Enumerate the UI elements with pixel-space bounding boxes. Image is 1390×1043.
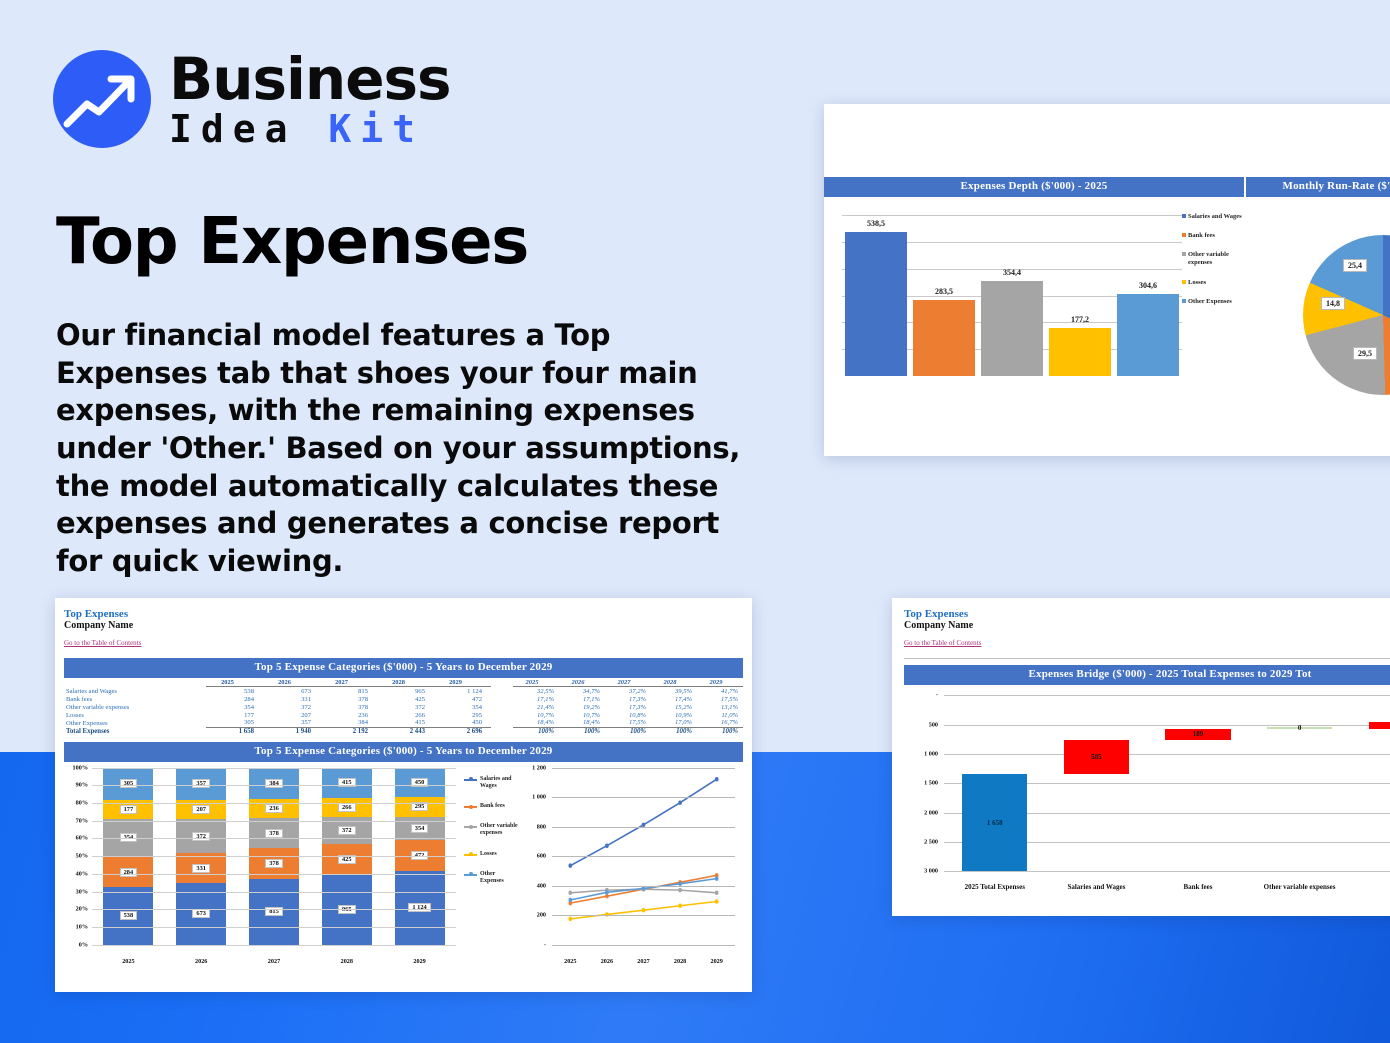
legend-swatch	[1182, 299, 1186, 303]
brand-logo: Business Idea Kit	[53, 50, 451, 148]
legend-swatch	[1182, 214, 1186, 218]
x-axis-tick: 2029	[395, 958, 445, 965]
bar: 304,6	[1117, 294, 1179, 376]
total-value: 1 940	[263, 727, 320, 735]
legend-item: Bank fees	[1182, 232, 1242, 240]
row-value: 357	[263, 719, 320, 727]
row-pct: 39,5%	[651, 688, 697, 696]
pie-slice-label: 14,8	[1321, 297, 1345, 310]
y-axis-tick: 60%	[76, 835, 88, 842]
gridline	[92, 803, 456, 804]
gridline	[92, 785, 456, 786]
x-axis-tick: 2027	[625, 958, 662, 965]
y-axis-tick: 20%	[76, 906, 88, 913]
waterfall-bar: 1 658	[962, 774, 1027, 871]
y-axis-tick: 1 000	[532, 794, 546, 801]
row-pct: 11,0%	[697, 711, 743, 719]
waterfall-bar: 0	[1267, 727, 1332, 729]
y-axis-tick: 200	[537, 912, 546, 919]
x-axis-tick: 2028	[662, 958, 699, 965]
stacked-segment: 284	[103, 857, 153, 887]
stacked-bar-chart: 100%90%80%70%60%50%40%30%20%10%0% 305177…	[64, 762, 462, 967]
legend-label: Other Expenses	[1188, 298, 1232, 306]
divider	[904, 658, 1390, 659]
legend-item: Other Expenses	[464, 871, 520, 885]
row-pct: 34,7%	[559, 688, 605, 696]
row-value: 673	[263, 688, 320, 696]
stacked-segment: 538	[103, 887, 153, 944]
legend-line-swatch	[464, 826, 477, 828]
legend-label: Salaries and Wages	[1188, 213, 1242, 221]
x-axis-tick: 2026	[589, 958, 626, 965]
bar: 538,5	[845, 232, 907, 376]
chart-title-monthly-run-rate: Monthly Run-Rate ($'000	[1244, 177, 1390, 197]
row-pct: 17,4%	[651, 696, 697, 704]
legend-item: Salaries and Wages	[1182, 213, 1242, 221]
y-axis-tick: 600	[537, 853, 546, 860]
y-axis-tick: 800	[537, 823, 546, 830]
table-header-year: 2028	[377, 678, 434, 686]
legend-swatch	[1182, 252, 1186, 256]
total-value: 1 658	[206, 727, 263, 735]
segment-value-label: 177	[120, 805, 138, 814]
sheet-title-bridge: Top Expenses	[904, 608, 1390, 620]
y-axis-tick: 1 200	[532, 764, 546, 771]
row-pct: 17,3%	[605, 704, 651, 712]
table-header-year: 2026	[263, 678, 320, 686]
stacked-segment: 450	[395, 768, 445, 798]
y-axis-tick: 3 000	[924, 868, 938, 875]
gridline	[92, 768, 456, 769]
sheet-header: Top Expenses Company Name Go to the Tabl…	[64, 608, 743, 649]
gridline	[552, 768, 735, 769]
row-label: Bank fees	[64, 696, 206, 704]
y-axis-tick: 500	[929, 721, 938, 728]
gridline	[552, 856, 735, 857]
row-pct: 18,4%	[559, 719, 605, 727]
y-axis-tick: 1 000	[924, 751, 938, 758]
table-row: Other variable expenses35437237837235421…	[64, 704, 743, 712]
stacked-segment: 331	[176, 853, 226, 883]
row-pct: 10,8%	[605, 711, 651, 719]
segment-value-label: 357	[192, 779, 210, 788]
row-pct: 10,7%	[559, 711, 605, 719]
row-value: 384	[320, 719, 377, 727]
segment-value-label: 378	[265, 859, 283, 868]
row-pct: 10,7%	[513, 711, 559, 719]
bar-chart-legend: Salaries and WagesBank feesOther variabl…	[1182, 213, 1242, 317]
row-value: 331	[263, 696, 320, 704]
row-pct: 17,1%	[513, 696, 559, 704]
table-header-year: 2025	[206, 678, 263, 686]
bar-value-label: 354,4	[981, 268, 1043, 277]
total-pct: 100%	[605, 727, 651, 735]
waterfall-value-label: 1 658	[987, 819, 1003, 827]
gridline	[92, 821, 456, 822]
row-value: 207	[263, 711, 320, 719]
legend-line-swatch	[464, 779, 477, 781]
row-value: 305	[206, 719, 263, 727]
table-header-year-pct: 2027	[605, 678, 651, 686]
segment-value-label: 331	[192, 864, 210, 873]
row-value: 965	[377, 688, 434, 696]
row-value: 236	[320, 711, 377, 719]
y-axis-tick: 2 000	[924, 809, 938, 816]
y-axis-tick: 0%	[79, 941, 88, 948]
y-axis-tick: 80%	[76, 800, 88, 807]
row-value: 354	[434, 704, 491, 712]
bar: 177,2	[1049, 328, 1111, 376]
total-value: 2 696	[434, 727, 491, 735]
bar: 283,5	[913, 300, 975, 376]
legend-label: Bank fees	[480, 803, 505, 810]
row-pct: 13,1%	[697, 704, 743, 712]
row-pct: 15,2%	[651, 704, 697, 712]
brand-kit-text: Kit	[328, 107, 424, 151]
table-header-year-pct: 2029	[697, 678, 743, 686]
row-pct: 10,9%	[651, 711, 697, 719]
gridline	[92, 927, 456, 928]
spacer	[491, 704, 513, 712]
row-value: 378	[320, 696, 377, 704]
total-value: 2 192	[320, 727, 377, 735]
gridline	[944, 725, 1390, 726]
gridline	[92, 838, 456, 839]
sheet-company-name-bridge: Company Name	[904, 620, 1390, 631]
legend-item: Bank fees	[464, 803, 520, 810]
legend-line-swatch	[464, 854, 477, 856]
y-axis-tick: 70%	[76, 817, 88, 824]
segment-value-label: 207	[192, 805, 210, 814]
panel-expenses-depth: Expenses Depth ($'000) - 2025 Monthly Ru…	[824, 104, 1390, 456]
row-value: 284	[206, 696, 263, 704]
stacked-segment: 266	[322, 798, 372, 817]
line-chart-legend: Salaries and WagesBank feesOther variabl…	[464, 776, 520, 899]
x-axis-tick: Other variable expenses	[1249, 883, 1351, 891]
segment-value-label: 236	[265, 804, 283, 813]
stacked-segment: 425	[322, 844, 372, 875]
table-header-year: 2029	[434, 678, 491, 686]
y-axis-tick: 2 500	[924, 839, 938, 846]
legend-item: Other variable expenses	[1182, 251, 1242, 267]
gridline	[92, 856, 456, 857]
y-axis-tick: 10%	[76, 923, 88, 930]
y-axis-tick: -	[936, 692, 938, 699]
growth-arrow-icon	[53, 50, 151, 148]
row-value: 450	[434, 719, 491, 727]
gridline	[92, 945, 456, 946]
table-total-row: Total Expenses1 6581 9402 1922 4432 6961…	[64, 727, 743, 735]
sheet-header-bridge: Top Expenses Company Name Go to the Tabl…	[904, 608, 1390, 649]
sheet-title: Top Expenses	[64, 608, 743, 620]
table-header-row: 2025202620272028202920252026202720282029	[64, 678, 743, 686]
waterfall-value-label: 189	[1193, 730, 1204, 738]
gridline	[552, 827, 735, 828]
row-value: 177	[206, 711, 263, 719]
bar-value-label: 177,2	[1049, 315, 1111, 324]
table-row: Bank fees28433137842547217,1%17,1%17,3%1…	[64, 696, 743, 704]
stacked-segment: 305	[103, 768, 153, 801]
table-header-blank	[64, 678, 206, 686]
gridline	[552, 945, 735, 946]
table-header-year-pct: 2026	[559, 678, 605, 686]
row-value: 354	[206, 704, 263, 712]
row-pct: 16,7%	[697, 719, 743, 727]
row-value: 1 124	[434, 688, 491, 696]
legend-line-swatch	[464, 874, 477, 876]
row-value: 372	[377, 704, 434, 712]
row-pct: 17,5%	[605, 719, 651, 727]
table-row: Salaries and Wages5386738159651 12432,5%…	[64, 688, 743, 696]
x-axis-tick: 2027	[249, 958, 299, 965]
row-pct: 37,2%	[605, 688, 651, 696]
legend-item: Other variable expenses	[464, 823, 520, 837]
row-pct: 41,7%	[697, 688, 743, 696]
row-pct: 17,1%	[559, 696, 605, 704]
row-pct: 17,0%	[651, 719, 697, 727]
bar-value-label: 538,5	[845, 219, 907, 228]
pie-slice-label: 29,5	[1353, 347, 1377, 360]
x-axis-tick: 2029	[698, 958, 735, 965]
table-header-year-pct: 2028	[651, 678, 697, 686]
gridline	[552, 797, 735, 798]
x-axis-tick: Losses	[1350, 883, 1390, 891]
gridline	[552, 915, 735, 916]
row-label: Salaries and Wages	[64, 688, 206, 696]
row-value: 425	[377, 696, 434, 704]
waterfall-bar: 117	[1369, 722, 1390, 729]
total-pct: 100%	[559, 727, 605, 735]
table-row: Other Expenses30535738441545018,4%18,4%1…	[64, 719, 743, 727]
gridline	[92, 874, 456, 875]
stacked-segment: 1 124	[395, 871, 445, 945]
spacer	[491, 719, 513, 727]
panel-expenses-bridge: Top Expenses Company Name Go to the Tabl…	[892, 598, 1390, 916]
segment-value-label: 673	[192, 909, 210, 918]
row-pct: 17,5%	[697, 696, 743, 704]
segment-value-label: 284	[120, 868, 138, 877]
table-gap	[491, 678, 513, 686]
legend-label: Other variable expenses	[480, 823, 520, 837]
expense-trend-line-chart: Salaries and WagesBank feesOther variabl…	[462, 762, 743, 967]
legend-label: Bank fees	[1188, 232, 1215, 240]
gridline	[92, 909, 456, 910]
y-axis-tick: 400	[537, 882, 546, 889]
y-axis-tick: 50%	[76, 853, 88, 860]
waterfall-chart: -5001 0001 5002 0002 5003 000 1 65858518…	[904, 691, 1390, 891]
x-axis-tick: Bank fees	[1147, 883, 1249, 891]
legend-swatch	[1182, 280, 1186, 284]
legend-label: Other variable expenses	[1188, 251, 1242, 267]
stacked-segment: 378	[249, 818, 299, 849]
segment-value-label: 354	[411, 824, 429, 833]
x-axis-tick: Salaries and Wages	[1046, 883, 1148, 891]
bar-value-label: 283,5	[913, 287, 975, 296]
total-pct: 100%	[513, 727, 559, 735]
legend-label: Salaries and Wages	[480, 776, 520, 790]
stacked-segment: 384	[249, 768, 299, 799]
segment-value-label: 305	[120, 779, 138, 788]
legend-label: Losses	[1188, 279, 1206, 287]
table-of-contents-link-bridge[interactable]: Go to the Table of Contents	[904, 639, 981, 647]
row-label: Other variable expenses	[64, 704, 206, 712]
table-header-year: 2027	[320, 678, 377, 686]
row-pct: 17,3%	[605, 696, 651, 704]
bar-value-label: 304,6	[1117, 281, 1179, 290]
row-value: 372	[263, 704, 320, 712]
table-title: Top 5 Expense Categories ($'000) - 5 Yea…	[64, 658, 743, 678]
page-title: Top Expenses	[56, 205, 528, 279]
legend-label: Losses	[480, 851, 497, 858]
stacked-chart-title: Top 5 Expense Categories ($'000) - 5 Yea…	[64, 742, 743, 762]
legend-swatch	[1182, 233, 1186, 237]
gridline	[944, 871, 1390, 872]
segment-value-label: 266	[338, 803, 356, 812]
row-value: 266	[377, 711, 434, 719]
segment-value-label: 378	[265, 829, 283, 838]
table-of-contents-link[interactable]: Go to the Table of Contents	[64, 639, 141, 647]
row-pct: 18,4%	[513, 719, 559, 727]
stacked-segment: 295	[395, 797, 445, 816]
x-axis-tick: 2025	[103, 958, 153, 965]
stacked-segment: 372	[176, 819, 226, 853]
segment-value-label: 372	[338, 826, 356, 835]
row-value: 815	[320, 688, 377, 696]
waterfall-bar: 189	[1165, 729, 1230, 740]
table-header-year-pct: 2025	[513, 678, 559, 686]
segment-value-label: 538	[120, 911, 138, 920]
row-value: 295	[434, 711, 491, 719]
legend-item: Other Expenses	[1182, 298, 1242, 306]
brand-name-line2: Idea Kit	[169, 110, 451, 148]
waterfall-value-label: 585	[1091, 753, 1102, 761]
x-axis-tick: 2028	[322, 958, 372, 965]
brand-idea-text: Idea	[169, 107, 328, 151]
y-axis-tick: -	[544, 941, 546, 948]
stacked-segment: 236	[249, 799, 299, 818]
segment-value-label: 1 124	[408, 903, 430, 912]
row-value: 378	[320, 704, 377, 712]
bridge-chart-title: Expenses Bridge ($'000) - 2025 Total Exp…	[904, 665, 1390, 685]
y-axis-tick: 100%	[73, 764, 88, 771]
page-description: Our financial model features a Top Expen…	[56, 317, 756, 581]
stacked-segment: 357	[176, 768, 226, 801]
stacked-segment: 415	[322, 768, 372, 798]
spacer	[491, 696, 513, 704]
gridline	[552, 886, 735, 887]
row-value: 472	[434, 696, 491, 704]
spacer	[491, 688, 513, 696]
total-pct: 100%	[697, 727, 743, 735]
gridline	[944, 754, 1390, 755]
row-value: 415	[377, 719, 434, 727]
legend-item: Salaries and Wages	[464, 776, 520, 790]
expense-categories-table: 2025202620272028202920252026202720282029…	[64, 678, 743, 735]
row-label: Losses	[64, 711, 206, 719]
legend-item: Losses	[464, 851, 520, 858]
total-value: 2 443	[377, 727, 434, 735]
panel-top-5-expense-categories: Top Expenses Company Name Go to the Tabl…	[55, 598, 752, 992]
gridline	[92, 892, 456, 893]
spacer	[491, 727, 513, 735]
brand-name-line1: Business	[169, 50, 451, 108]
row-pct: 32,5%	[513, 688, 559, 696]
row-pct: 19,2%	[559, 704, 605, 712]
legend-label: Other Expenses	[480, 871, 520, 885]
pie-slice-label: 25,4	[1343, 259, 1367, 272]
x-axis-tick: 2025	[552, 958, 589, 965]
waterfall-bar: 585	[1064, 740, 1129, 774]
total-pct: 100%	[651, 727, 697, 735]
chart-title-expenses-depth: Expenses Depth ($'000) - 2025	[824, 177, 1244, 197]
y-axis-tick: 40%	[76, 870, 88, 877]
x-axis-tick: 2026	[176, 958, 226, 965]
waterfall-value-label: 0	[1298, 724, 1302, 732]
y-axis-tick: 90%	[76, 782, 88, 789]
row-value: 538	[206, 688, 263, 696]
stacked-segment: 815	[249, 879, 299, 945]
x-axis-tick: 2025 Total Expenses	[944, 883, 1046, 891]
table-row: Losses17720723626629510,7%10,7%10,8%10,9…	[64, 711, 743, 719]
y-axis-tick: 30%	[76, 888, 88, 895]
bar: 354,4	[981, 281, 1043, 376]
row-pct: 21,4%	[513, 704, 559, 712]
spacer	[491, 711, 513, 719]
sheet-company-name: Company Name	[64, 620, 743, 631]
legend-item: Losses	[1182, 279, 1242, 287]
gridline	[944, 695, 1390, 696]
y-axis-tick: 1 500	[924, 780, 938, 787]
legend-line-swatch	[464, 806, 477, 808]
row-label: Other Expenses	[64, 719, 206, 727]
total-label: Total Expenses	[64, 727, 206, 735]
